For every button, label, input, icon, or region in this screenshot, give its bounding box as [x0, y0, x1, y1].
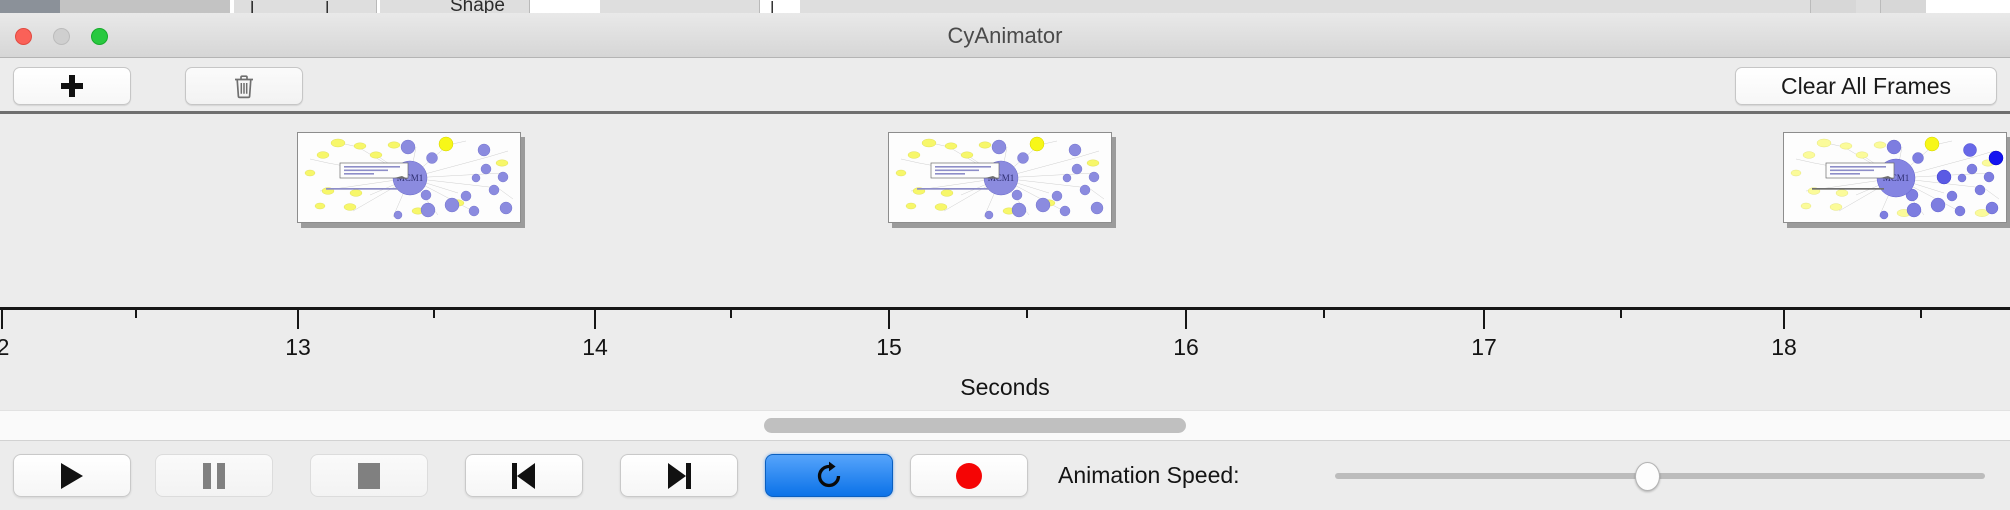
pause-icon [203, 463, 225, 489]
timeline-frame[interactable]: MCM1 [1783, 132, 2010, 228]
pause-button[interactable] [155, 454, 273, 497]
frame-thumbnail: MCM1 [1783, 132, 2007, 223]
background-scroll-corner [1810, 0, 1856, 13]
animation-speed-slider[interactable] [1335, 454, 1985, 497]
cyanimator-window: | | Shape | CyAnimator Clear All [0, 0, 2010, 510]
loop-button[interactable] [765, 454, 893, 497]
axis-tick-minor [135, 307, 137, 318]
network-thumbnail-image: MCM1 [298, 133, 521, 223]
background-glyph: | [325, 0, 329, 13]
playback-control-bar: Animation Speed: [0, 440, 2010, 510]
axis-tick-minor [1620, 307, 1622, 318]
background-chunk [800, 0, 1900, 13]
axis-tick-minor [1323, 307, 1325, 318]
add-frame-button[interactable] [13, 67, 131, 105]
frame-thumbnail: MCM1 [888, 132, 1112, 223]
axis-tick-minor [433, 307, 435, 318]
stop-icon [358, 463, 380, 489]
axis-tick-major [297, 307, 299, 329]
background-glyph: | [770, 0, 774, 13]
toolbar: Clear All Frames [0, 58, 2010, 112]
record-icon [956, 463, 982, 489]
axis-tick-major [1, 307, 3, 329]
timeline-scrollbar-thumb[interactable] [764, 418, 1186, 433]
background-chunk [600, 0, 760, 13]
close-window-button[interactable] [15, 28, 32, 45]
background-app-strip: | | Shape | [0, 0, 2010, 13]
slider-track[interactable] [1335, 473, 1985, 479]
axis-tick-minor [730, 307, 732, 318]
frame-thumbnail: MCM1 [297, 132, 521, 223]
clear-all-frames-label: Clear All Frames [1781, 73, 1951, 100]
background-chunk [252, 0, 377, 13]
play-button[interactable] [13, 454, 131, 497]
minimize-window-button[interactable] [53, 28, 70, 45]
stop-button[interactable] [310, 454, 428, 497]
animation-speed-label: Animation Speed: [1058, 454, 1240, 497]
skip-to-end-button[interactable] [620, 454, 738, 497]
axis-tick-major [1783, 307, 1785, 329]
timeline-scrollbar-track[interactable] [0, 410, 2010, 440]
window-title: CyAnimator [0, 13, 2010, 58]
background-tab-light [60, 0, 230, 13]
skip-start-icon [512, 463, 536, 489]
timeline-frame[interactable]: MCM1 [297, 132, 525, 228]
axis-tick-minor [1026, 307, 1028, 318]
axis-tick-major [594, 307, 596, 329]
axis-tick-major [1185, 307, 1187, 329]
background-glyph: | [250, 0, 254, 13]
timeline-axis [0, 307, 2010, 310]
titlebar: CyAnimator [0, 13, 2010, 58]
timeline-panel[interactable]: MCM1 [0, 114, 2010, 410]
axis-tick-label: 14 [565, 334, 625, 361]
play-icon [61, 463, 83, 489]
record-button[interactable] [910, 454, 1028, 497]
axis-title: Seconds [0, 374, 2010, 401]
background-shape-label: Shape [450, 0, 505, 13]
slider-thumb[interactable] [1635, 462, 1660, 491]
background-tab-dark [0, 0, 60, 13]
network-thumbnail-image: MCM1 [889, 133, 1112, 223]
plus-icon [61, 75, 83, 97]
clear-all-frames-button[interactable]: Clear All Frames [1735, 67, 1997, 105]
trash-icon [233, 74, 255, 99]
delete-frame-button[interactable] [185, 67, 303, 105]
loop-icon [813, 460, 845, 492]
axis-tick-label: 2 [0, 334, 33, 361]
network-thumbnail-image: MCM1 [1784, 133, 2007, 223]
skip-end-icon [667, 463, 691, 489]
axis-tick-major [888, 307, 890, 329]
axis-tick-label: 16 [1156, 334, 1216, 361]
skip-to-start-button[interactable] [465, 454, 583, 497]
axis-tick-major [1483, 307, 1485, 329]
maximize-window-button[interactable] [91, 28, 108, 45]
background-scroll-corner [1880, 0, 1926, 13]
axis-tick-label: 17 [1454, 334, 1514, 361]
axis-tick-label: 15 [859, 334, 919, 361]
axis-tick-label: 18 [1754, 334, 1814, 361]
timeline-frame[interactable]: MCM1 [888, 132, 1116, 228]
axis-tick-minor [1920, 307, 1922, 318]
axis-tick-label: 13 [268, 334, 328, 361]
